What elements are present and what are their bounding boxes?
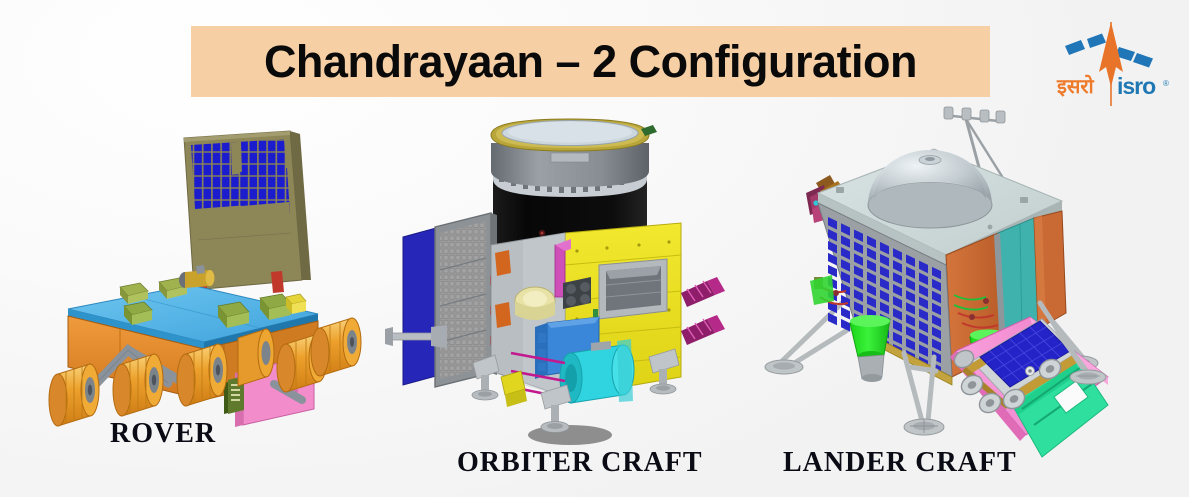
isro-logo-graphic: इसरो isro ® — [1047, 20, 1175, 108]
logo-latin-text: isro — [1117, 73, 1156, 99]
orbiter-illustration — [395, 105, 740, 450]
lander-caption: LANDER CRAFT — [783, 447, 1017, 479]
rover-illustration — [28, 128, 368, 418]
rover-graphic — [28, 128, 368, 418]
lander-dome-antenna — [868, 150, 992, 228]
lander-graphic — [758, 105, 1108, 457]
lander-green-fairing — [810, 275, 834, 305]
logo-solar-panel-left — [1065, 34, 1106, 56]
rover-wheel — [49, 364, 99, 426]
lander-engine-nozzle — [850, 315, 890, 382]
title-banner: Chandrayaan – 2 Configuration — [191, 26, 990, 97]
logo-devanagari-text: इसरो — [1056, 74, 1095, 98]
lander-illustration — [758, 105, 1108, 457]
logo-trademark: ® — [1163, 79, 1169, 88]
page-title: Chandrayaan – 2 Configuration — [264, 39, 917, 84]
rover-caption: ROVER — [110, 418, 216, 450]
isro-logo: इसरो isro ® — [1047, 20, 1175, 108]
orbiter-graphic — [395, 105, 740, 450]
orbiter-caption: ORBITER CRAFT — [457, 447, 703, 479]
orbiter-instrument-box — [599, 259, 667, 319]
orbiter-reaction-wheel — [515, 287, 555, 320]
orbiter-thrusters — [681, 277, 725, 345]
slide-canvas: Chandrayaan – 2 Configuration इसरो isro … — [0, 0, 1189, 497]
